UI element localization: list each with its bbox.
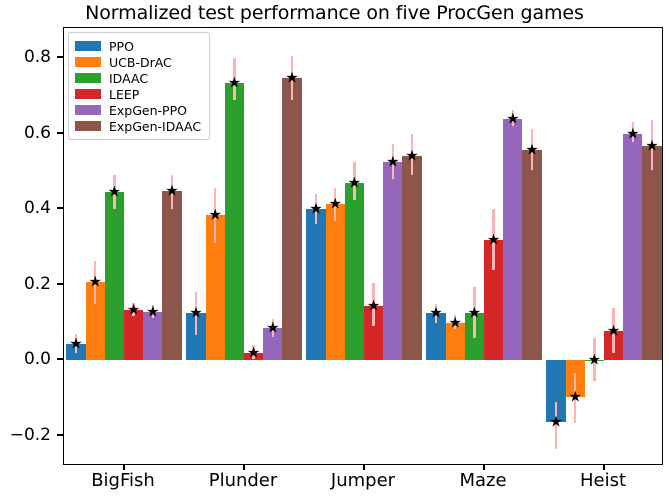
legend-swatch-icon [75,73,101,83]
legend-item-idaac: IDAAC [75,70,201,86]
legend-swatch-icon [75,89,101,99]
bar-jumper-ppo [306,209,325,360]
bar-jumper-ucb-drac [326,204,345,360]
y-tick-mark [57,132,63,134]
error-bar [593,338,595,381]
y-tick-mark [57,358,63,360]
legend-swatch-icon [75,57,101,67]
error-bar [334,188,336,220]
legend-item-leep: LEEP [75,86,201,102]
y-tick-mark [57,434,63,436]
bar-bigfish-leep [124,310,143,361]
y-tick-label: 0.4 [1,198,51,218]
bar-maze-expgen-ppo [503,119,522,361]
legend-item-expgen-ppo: ExpGen-PPO [75,102,201,118]
x-tick-label: BigFish [91,470,155,491]
error-bar [473,287,475,338]
legend-item-ppo: PPO [75,38,201,54]
error-bar [233,58,235,100]
legend-label: ExpGen-PPO [109,103,187,118]
error-bar [171,175,173,209]
chart-title: Normalized test performance on five Proc… [0,2,669,24]
bar-bigfish-idaac [105,192,124,360]
error-bar [574,373,576,422]
error-bar [372,283,374,326]
error-bar [252,345,254,359]
legend-item-expgen-idaac: ExpGen-IDAAC [75,118,201,134]
error-bar [214,188,216,243]
legend-label: LEEP [109,87,139,102]
error-bar [392,144,394,179]
y-tick-label: 0.6 [1,123,51,143]
legend-label: PPO [109,39,134,54]
x-tick-label: Heist [580,470,626,491]
bar-bigfish-expgen-ppo [143,312,162,360]
y-tick-label: 0.2 [1,274,51,294]
legend-item-ucb-drac: UCB-DrAC [75,54,201,70]
bar-jumper-idaac [345,183,364,360]
legend-swatch-icon [75,105,101,115]
y-tick-mark [57,56,63,58]
chart-legend: PPOUCB-DrACIDAACLEEPExpGen-PPOExpGen-IDA… [68,32,210,140]
error-bar [612,308,614,353]
legend-label: IDAAC [109,71,148,86]
chart-figure: Normalized test performance on five Proc… [0,0,669,496]
y-tick-mark [57,283,63,285]
bar-heist-expgen-ppo [623,134,642,361]
error-bar [632,122,634,142]
x-tick-label: Jumper [331,470,395,491]
bar-plunder-expgen-idaac [282,78,301,360]
error-bar [315,194,317,224]
error-bar [492,209,494,269]
error-bar [132,303,134,316]
error-bar [152,305,154,318]
y-tick-label: 0.8 [1,47,51,67]
y-tick-label: −0.2 [1,425,51,445]
bar-heist-expgen-idaac [642,146,661,360]
error-bar [651,120,653,169]
x-tick-label: Maze [459,470,506,491]
error-bar [512,110,514,127]
bar-jumper-expgen-idaac [402,156,421,361]
error-bar [291,56,293,99]
bar-maze-expgen-idaac [522,150,541,361]
error-bar [75,334,77,353]
error-bar [555,402,557,449]
error-bar [195,292,197,336]
bar-bigfish-expgen-idaac [162,191,181,360]
legend-swatch-icon [75,121,101,131]
error-bar [94,261,96,303]
error-bar [454,315,456,329]
error-bar [531,129,533,169]
bar-jumper-expgen-ppo [383,162,402,360]
legend-label: ExpGen-IDAAC [109,119,201,134]
error-bar [411,134,413,176]
error-bar [353,162,355,200]
legend-label: UCB-DrAC [109,55,172,70]
y-tick-label: 0.0 [1,349,51,369]
x-tick-label: Plunder [209,470,278,491]
y-tick-mark [57,207,63,209]
error-bar [435,304,437,322]
legend-swatch-icon [75,41,101,51]
error-bar [272,319,274,337]
error-bar [113,175,115,209]
bar-plunder-idaac [225,83,244,361]
